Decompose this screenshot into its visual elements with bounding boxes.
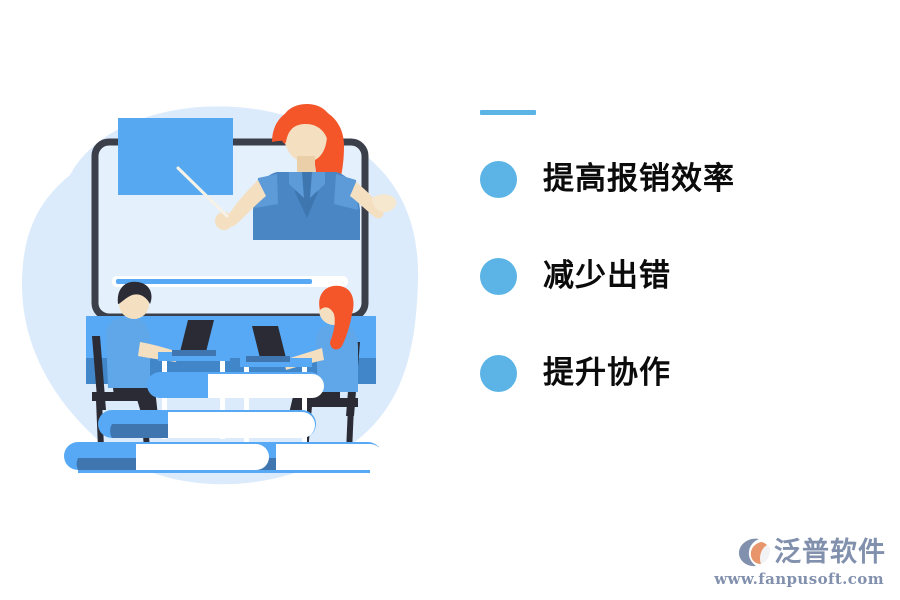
brand-logo: 泛普软件 www.fanpusoft.com <box>714 536 886 588</box>
list-item-label: 减少出错 <box>543 261 671 292</box>
book-3-pages-b <box>276 444 383 470</box>
list-item: 减少出错 <box>480 256 880 296</box>
video-progress-fill <box>116 279 312 284</box>
laptop-right-base <box>246 356 290 362</box>
benefits-list: 提高报销效率 减少出错 提升协作 <box>480 110 880 393</box>
teacher-neck <box>297 156 315 174</box>
book-3-pages-a <box>136 444 269 470</box>
accent-bar <box>480 110 536 115</box>
logo-website-url: www.fanpusoft.com <box>714 570 884 588</box>
logo-company-name: 泛普软件 <box>774 539 886 566</box>
online-learning-illustration <box>0 80 470 500</box>
presentation-board <box>118 118 233 195</box>
book-1-pages <box>208 374 324 398</box>
laptop-left-base <box>172 350 216 356</box>
page-root: 提高报销效率 减少出错 提升协作 泛普软件 www.fanpusoft.com <box>0 0 900 600</box>
list-item: 提高报销效率 <box>480 159 880 199</box>
list-item-label: 提升协作 <box>543 358 671 389</box>
list-item-label: 提高报销效率 <box>543 164 735 195</box>
book-baseline <box>78 470 370 473</box>
list-item: 提升协作 <box>480 353 880 393</box>
fanpu-logo-icon <box>737 536 771 568</box>
book-2-pages <box>168 412 315 438</box>
logo-top-row: 泛普软件 <box>737 536 886 568</box>
bullet-dot-icon <box>480 258 517 295</box>
bullet-dot-icon <box>480 355 517 392</box>
bullet-dot-icon <box>480 161 517 198</box>
